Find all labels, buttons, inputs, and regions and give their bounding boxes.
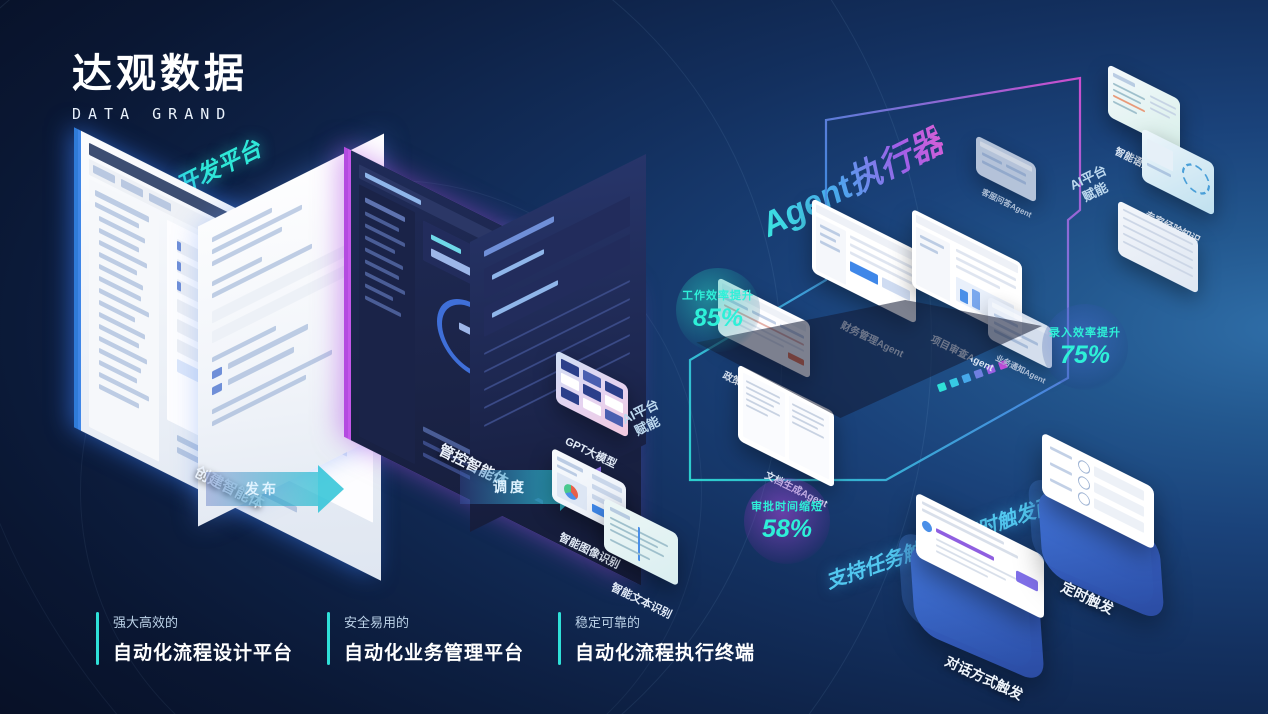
metric-value-approval: 58%: [762, 515, 812, 544]
schedule-arrow-label: 调度: [460, 470, 560, 504]
footer-sub-1: 安全易用的: [344, 612, 524, 631]
footer-accent-bar: [327, 612, 330, 665]
metric-badge-approval: 审批时间缩短 58%: [744, 478, 830, 564]
footer-main-1: 自动化业务管理平台: [344, 638, 524, 665]
footer-item-1: 安全易用的 自动化业务管理平台: [327, 612, 558, 665]
footer-item-0: 强大高效的 自动化流程设计平台: [96, 612, 327, 665]
capability-tile-text[interactable]: [604, 498, 678, 587]
metric-badge-entry: 录入效率提升 75%: [1042, 304, 1128, 390]
infographic-canvas: 达观数据 DATA GRAND Agent开发平台: [0, 0, 1268, 714]
publish-arrow: 发布: [206, 472, 344, 506]
footer-main-0: 自动化流程设计平台: [113, 638, 293, 665]
footer-captions: 强大高效的 自动化流程设计平台 安全易用的 自动化业务管理平台 稳定可靠的 自动…: [96, 612, 789, 665]
footer-sub-2: 稳定可靠的: [575, 612, 755, 631]
metric-badge-efficiency: 工作效率提升 85%: [676, 268, 760, 352]
footer-sub-0: 强大高效的: [113, 612, 293, 631]
footer-accent-bar: [558, 612, 561, 665]
brand-name-cn: 达观数据: [72, 52, 248, 97]
footer-item-2: 稳定可靠的 自动化流程执行终端: [558, 612, 789, 665]
metric-label-efficiency: 工作效率提升: [682, 287, 754, 303]
metric-value-entry: 75%: [1060, 341, 1110, 370]
publish-arrow-label: 发布: [206, 472, 318, 506]
brand-logo: 达观数据 DATA GRAND: [72, 52, 248, 123]
brand-name-en: DATA GRAND: [72, 105, 248, 123]
metric-label-entry: 录入效率提升: [1049, 324, 1121, 340]
footer-main-2: 自动化流程执行终端: [575, 638, 755, 665]
metric-value-efficiency: 85%: [693, 304, 743, 333]
metric-label-approval: 审批时间缩短: [751, 498, 823, 514]
footer-accent-bar: [96, 612, 99, 665]
